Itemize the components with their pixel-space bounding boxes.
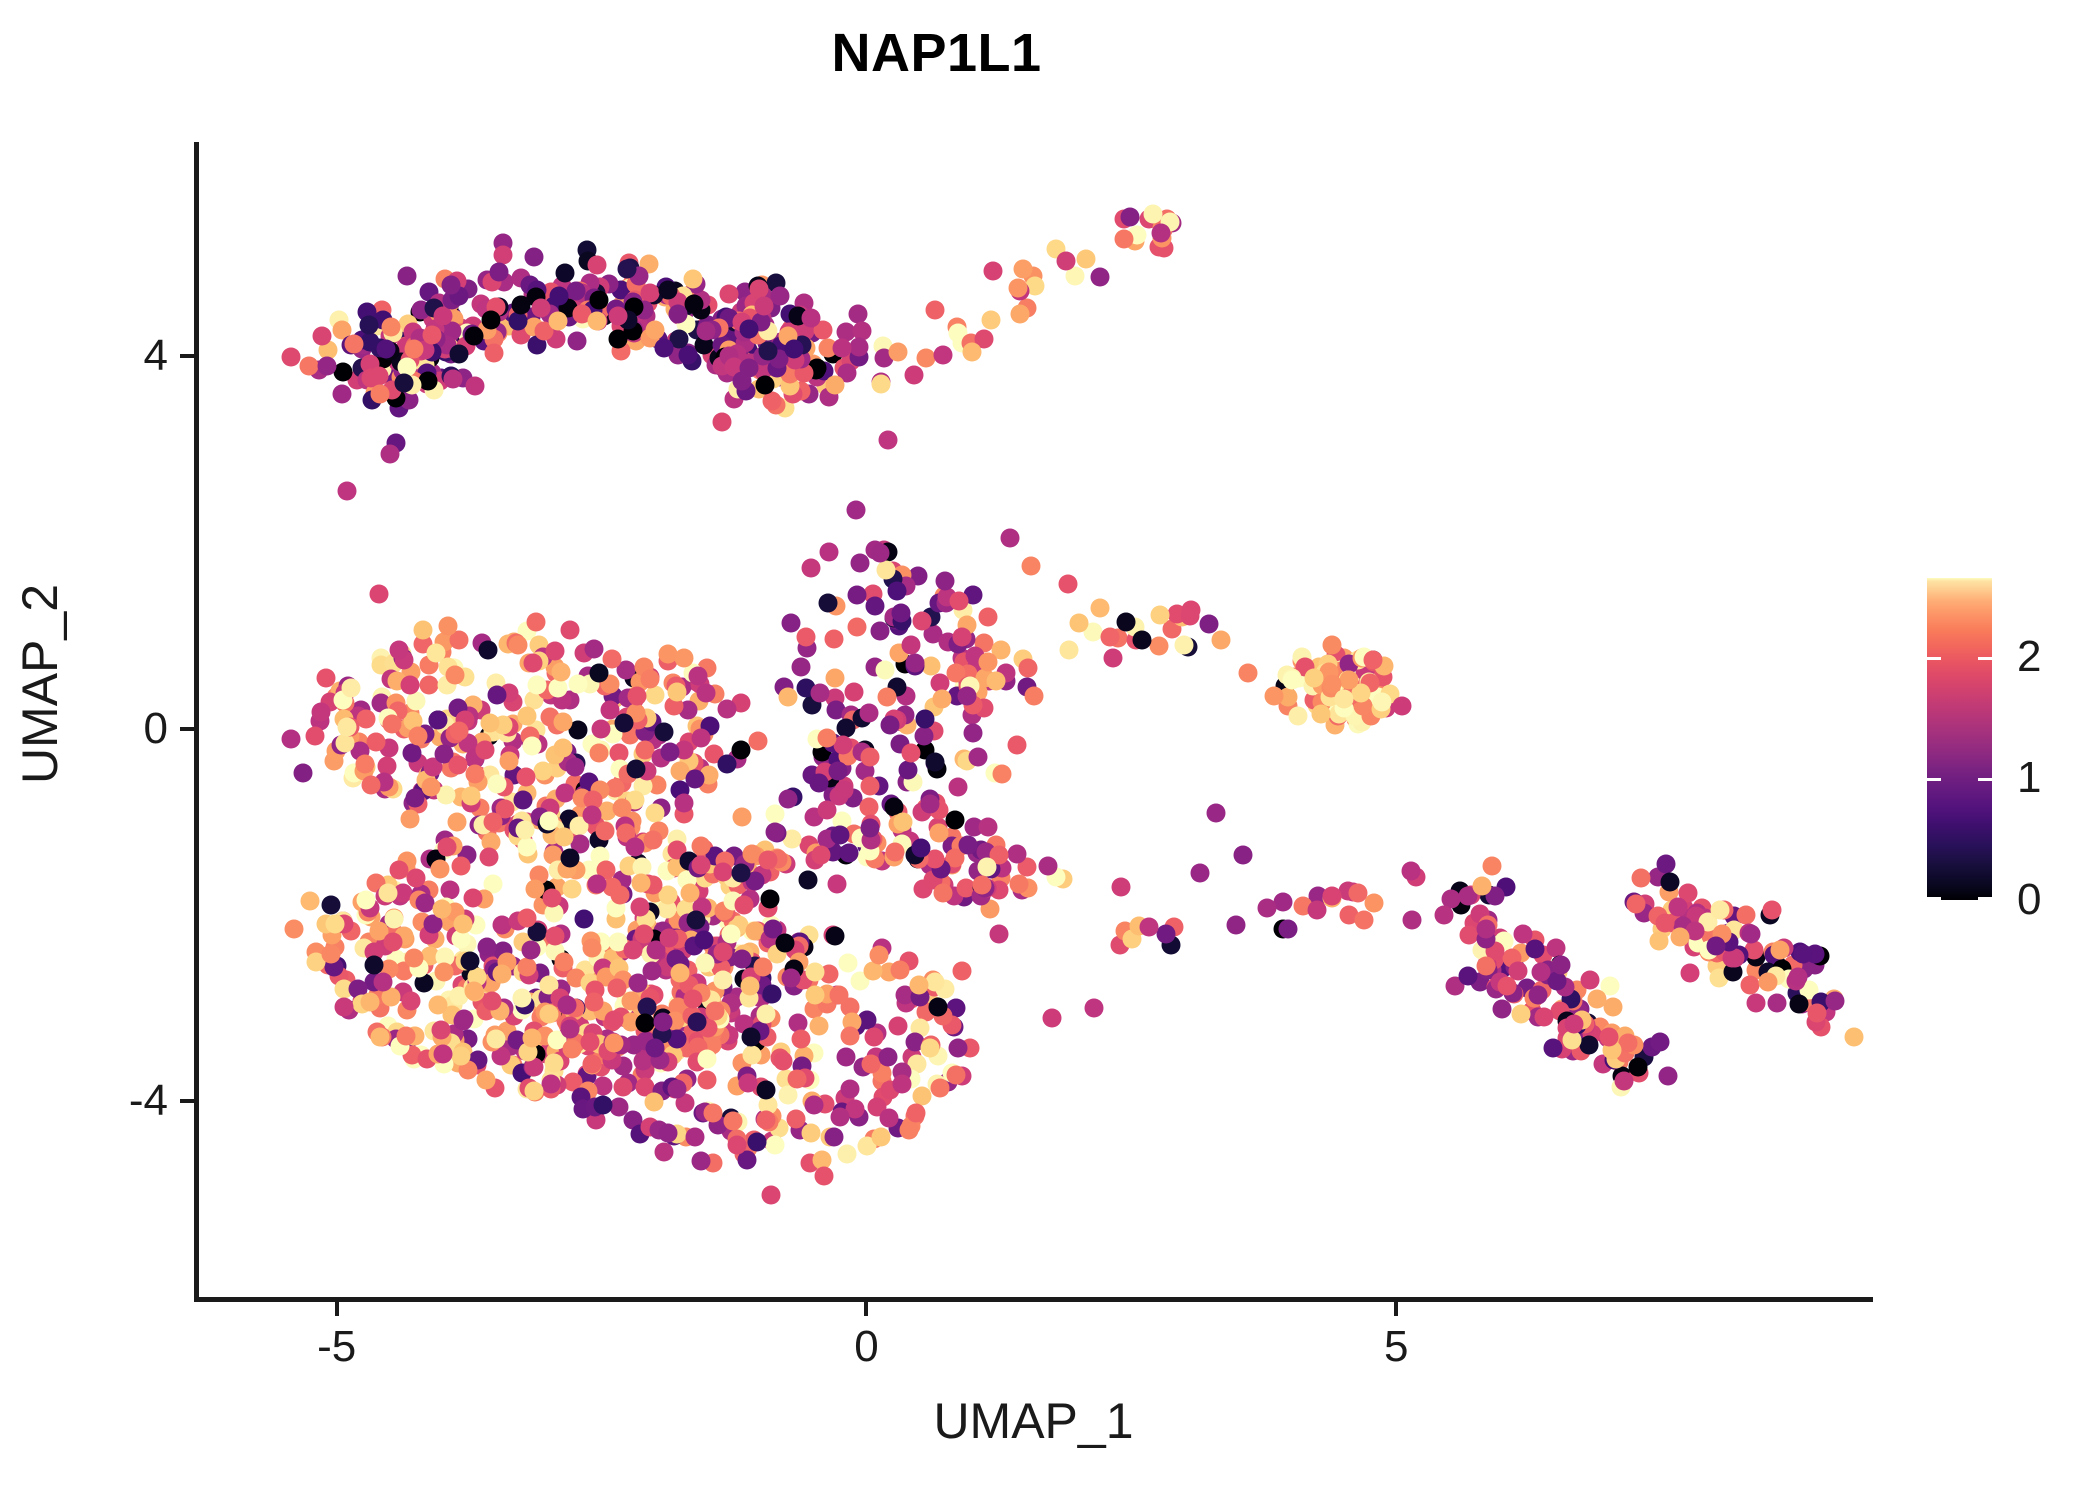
scatter-point xyxy=(1492,999,1511,1018)
scatter-point xyxy=(614,714,633,733)
scatter-point xyxy=(500,752,519,771)
scatter-point xyxy=(901,744,920,763)
scatter-point xyxy=(763,985,782,1004)
scatter-point xyxy=(588,312,607,331)
scatter-point xyxy=(787,1070,806,1089)
scatter-point xyxy=(766,1135,785,1154)
scatter-point xyxy=(1057,251,1076,270)
scatter-point xyxy=(524,248,543,267)
scatter-point xyxy=(720,284,739,303)
scatter-point xyxy=(370,1028,389,1047)
scatter-point xyxy=(1233,845,1252,864)
scatter-point xyxy=(364,955,383,974)
scatter-point xyxy=(1008,845,1027,864)
scatter-point xyxy=(613,1078,632,1097)
scatter-point xyxy=(684,270,703,289)
scatter-point xyxy=(644,830,663,849)
scatter-point xyxy=(420,676,439,695)
scatter-point xyxy=(401,676,420,695)
scatter-point xyxy=(1077,249,1096,268)
scatter-point xyxy=(300,357,319,376)
scatter-point xyxy=(784,340,803,359)
scatter-point xyxy=(1808,1003,1827,1022)
scatter-point xyxy=(534,761,553,780)
scatter-point xyxy=(1181,607,1200,626)
scatter-point xyxy=(370,384,389,403)
scatter-point xyxy=(781,614,800,633)
scatter-point xyxy=(801,1123,820,1142)
scatter-point xyxy=(829,986,848,1005)
scatter-point xyxy=(1631,868,1650,887)
scatter-point xyxy=(518,958,537,977)
scatter-point xyxy=(757,1080,776,1099)
scatter-point xyxy=(1018,659,1037,678)
scatter-point xyxy=(1305,668,1324,687)
scatter-point xyxy=(583,806,602,825)
scatter-point xyxy=(1581,970,1600,989)
scatter-point xyxy=(591,719,610,738)
scatter-point xyxy=(554,713,573,732)
scatter-point xyxy=(1282,670,1301,689)
scatter-point xyxy=(964,724,983,743)
scatter-point xyxy=(627,686,646,705)
scatter-point xyxy=(590,663,609,682)
scatter-point xyxy=(333,385,352,404)
colorbar-tick-mark xyxy=(1927,657,1941,660)
scatter-point xyxy=(1008,278,1027,297)
scatter-point xyxy=(713,970,732,989)
scatter-point xyxy=(881,715,900,734)
scatter-point xyxy=(880,1108,899,1127)
scatter-point xyxy=(1279,920,1298,939)
scatter-point xyxy=(979,817,998,836)
scatter-point xyxy=(838,954,857,973)
scatter-point xyxy=(654,1012,673,1031)
scatter-point xyxy=(1768,993,1787,1012)
scatter-point xyxy=(1392,696,1411,715)
scatter-point xyxy=(1207,803,1226,822)
scatter-point xyxy=(878,431,897,450)
scatter-point xyxy=(1132,631,1151,650)
scatter-point xyxy=(848,586,867,605)
scatter-point xyxy=(546,641,565,660)
scatter-point xyxy=(1534,1008,1553,1027)
scatter-point xyxy=(590,290,609,309)
scatter-point xyxy=(624,941,643,960)
scatter-point xyxy=(439,617,458,636)
scatter-point xyxy=(1090,268,1109,287)
scatter-point xyxy=(982,311,1001,330)
scatter-point xyxy=(811,683,830,702)
scatter-point xyxy=(773,1051,792,1070)
scatter-point xyxy=(563,1040,582,1059)
scatter-point xyxy=(306,727,325,746)
scatter-point xyxy=(1758,973,1777,992)
scatter-point xyxy=(706,1002,725,1021)
scatter-point xyxy=(1085,999,1104,1018)
scatter-point xyxy=(451,1047,470,1066)
scatter-point xyxy=(837,1144,856,1163)
scatter-point xyxy=(952,962,971,981)
scatter-point xyxy=(561,1019,580,1038)
scatter-point xyxy=(448,812,467,831)
scatter-point xyxy=(429,710,448,729)
scatter-points-layer xyxy=(199,142,1873,1297)
scatter-point xyxy=(522,1029,541,1048)
scatter-point xyxy=(379,883,398,902)
y-axis-title: UMAP_2 xyxy=(11,374,69,994)
scatter-point xyxy=(444,369,463,388)
scatter-point xyxy=(636,1014,655,1033)
scatter-point xyxy=(626,837,645,856)
scatter-point xyxy=(926,300,945,319)
scatter-point xyxy=(755,297,774,316)
scatter-point xyxy=(870,544,889,563)
scatter-point xyxy=(691,729,710,748)
scatter-point xyxy=(337,718,356,737)
x-axis-line xyxy=(194,1297,1873,1302)
scatter-point xyxy=(489,262,508,281)
scatter-point xyxy=(818,594,837,613)
scatter-point xyxy=(369,367,388,386)
scatter-point xyxy=(1060,641,1079,660)
scatter-point xyxy=(1588,989,1607,1008)
scatter-point xyxy=(1649,932,1668,951)
scatter-point xyxy=(885,842,904,861)
scatter-point xyxy=(1339,671,1358,690)
scatter-point xyxy=(595,822,614,841)
scatter-point xyxy=(1101,628,1120,647)
scatter-point xyxy=(762,1185,781,1204)
scatter-point xyxy=(1042,1008,1061,1027)
scatter-point xyxy=(1741,975,1760,994)
scatter-point xyxy=(1531,962,1550,981)
scatter-point xyxy=(775,933,794,952)
scatter-point xyxy=(810,1016,829,1035)
scatter-point xyxy=(1627,895,1646,914)
scatter-point xyxy=(948,777,967,796)
scatter-point xyxy=(285,920,304,939)
scatter-point xyxy=(609,330,628,349)
scatter-point xyxy=(860,704,879,723)
scatter-point xyxy=(933,689,952,708)
scatter-point xyxy=(928,998,947,1017)
scatter-point xyxy=(441,275,460,294)
scatter-point xyxy=(488,686,507,705)
scatter-point xyxy=(540,812,559,831)
scatter-point xyxy=(891,960,910,979)
scatter-point xyxy=(563,880,582,899)
scatter-point xyxy=(517,706,536,725)
scatter-point xyxy=(318,356,337,375)
scatter-point xyxy=(434,1044,453,1063)
scatter-point xyxy=(398,266,417,285)
scatter-point xyxy=(802,308,821,327)
scatter-point xyxy=(687,911,706,930)
scatter-point xyxy=(658,280,677,299)
y-tick-label: 0 xyxy=(144,704,168,754)
scatter-point xyxy=(1483,857,1502,876)
scatter-point xyxy=(958,687,977,706)
scatter-point xyxy=(685,1128,704,1147)
scatter-point xyxy=(721,925,740,944)
scatter-point xyxy=(836,1048,855,1067)
scatter-point xyxy=(525,1081,544,1100)
scatter-point xyxy=(1175,636,1194,655)
scatter-point xyxy=(949,1039,968,1058)
scatter-point xyxy=(1323,886,1342,905)
x-tick-mark xyxy=(864,1302,868,1316)
scatter-point xyxy=(1038,856,1057,875)
scatter-point xyxy=(696,953,715,972)
scatter-point xyxy=(684,990,703,1009)
scatter-point xyxy=(508,635,527,654)
scatter-point xyxy=(791,1029,810,1048)
scatter-point xyxy=(973,876,992,895)
scatter-point xyxy=(689,666,708,685)
scatter-point xyxy=(1657,854,1676,873)
scatter-point xyxy=(554,952,573,971)
scatter-point xyxy=(947,1066,966,1085)
scatter-point xyxy=(1000,528,1019,547)
scatter-point xyxy=(1528,985,1547,1004)
scatter-point xyxy=(1660,872,1679,891)
scatter-point xyxy=(584,640,603,659)
umap-feature-plot: NAP1L1 -404 -505 UMAP_1 UMAP_2 012 xyxy=(0,0,2100,1500)
scatter-point xyxy=(560,848,579,867)
scatter-point xyxy=(865,596,884,615)
scatter-point xyxy=(551,663,570,682)
scatter-point xyxy=(1746,994,1765,1013)
scatter-point xyxy=(561,620,580,639)
page-title: NAP1L1 xyxy=(0,22,1873,84)
scatter-point xyxy=(817,801,836,820)
scatter-point xyxy=(480,714,499,733)
scatter-point xyxy=(893,813,912,832)
scatter-point xyxy=(861,819,880,838)
scatter-point xyxy=(428,995,447,1014)
scatter-point xyxy=(1120,208,1139,227)
scatter-point xyxy=(933,884,952,903)
scatter-point xyxy=(373,972,392,991)
scatter-point xyxy=(370,584,389,603)
scatter-point xyxy=(464,889,483,908)
x-tick-label: -5 xyxy=(317,1322,356,1372)
scatter-point xyxy=(542,888,561,907)
scatter-point xyxy=(465,327,484,346)
scatter-point xyxy=(1013,259,1032,278)
scatter-point xyxy=(922,656,941,675)
scatter-point xyxy=(465,764,484,783)
y-tick-mark xyxy=(180,354,194,358)
scatter-point xyxy=(741,976,760,995)
scatter-point xyxy=(432,900,451,919)
scatter-point xyxy=(431,1021,450,1040)
scatter-point xyxy=(930,823,949,842)
scatter-point xyxy=(860,747,879,766)
scatter-point xyxy=(356,709,375,728)
scatter-point xyxy=(549,286,568,305)
scatter-point xyxy=(733,807,752,826)
scatter-point xyxy=(830,1107,849,1126)
scatter-point xyxy=(645,321,664,340)
scatter-point xyxy=(445,665,464,684)
scatter-point xyxy=(950,591,969,610)
scatter-point xyxy=(756,1111,775,1130)
scatter-point xyxy=(912,838,931,857)
scatter-point xyxy=(727,1136,746,1155)
scatter-point xyxy=(479,848,498,867)
scatter-point xyxy=(1579,1035,1598,1054)
scatter-point xyxy=(482,992,501,1011)
scatter-point xyxy=(848,305,867,324)
scatter-point xyxy=(748,1133,767,1152)
scatter-point xyxy=(641,670,660,689)
scatter-point xyxy=(926,753,945,772)
scatter-point xyxy=(825,927,844,946)
scatter-point xyxy=(739,320,758,339)
colorbar-tick-label: 0 xyxy=(2017,875,2041,925)
scatter-point xyxy=(888,582,907,601)
scatter-point xyxy=(301,892,320,911)
scatter-point xyxy=(449,722,468,741)
scatter-point xyxy=(418,371,437,390)
y-tick-mark xyxy=(180,727,194,731)
scatter-point xyxy=(531,298,550,317)
scatter-point xyxy=(422,325,441,344)
scatter-point xyxy=(645,1093,664,1112)
x-tick-mark xyxy=(1394,1302,1398,1316)
scatter-point xyxy=(933,345,952,364)
scatter-point xyxy=(1671,927,1690,946)
scatter-point xyxy=(545,1053,564,1072)
scatter-point xyxy=(522,941,541,960)
scatter-point xyxy=(888,342,907,361)
scatter-point xyxy=(968,747,987,766)
colorbar-gradient xyxy=(1927,578,1992,900)
scatter-point xyxy=(1011,305,1030,324)
scatter-point xyxy=(694,930,713,949)
scatter-point xyxy=(1845,1027,1864,1046)
scatter-point xyxy=(671,964,690,983)
scatter-point xyxy=(434,963,453,982)
scatter-point xyxy=(1307,901,1326,920)
scatter-point xyxy=(805,985,824,1004)
scatter-point xyxy=(1149,636,1168,655)
scatter-point xyxy=(674,793,693,812)
scatter-point xyxy=(870,945,889,964)
scatter-point xyxy=(357,890,376,909)
scatter-point xyxy=(487,1030,506,1049)
scatter-point xyxy=(840,1026,859,1045)
scatter-point xyxy=(483,812,502,831)
scatter-point xyxy=(749,732,768,751)
scatter-point xyxy=(1058,575,1077,594)
scatter-point xyxy=(732,949,751,968)
scatter-point xyxy=(408,726,427,745)
scatter-point xyxy=(675,649,694,668)
scatter-point xyxy=(403,743,422,762)
scatter-point xyxy=(1770,940,1789,959)
scatter-point xyxy=(761,890,780,909)
scatter-point xyxy=(555,264,574,283)
scatter-point xyxy=(661,742,680,761)
scatter-point xyxy=(479,641,498,660)
scatter-point xyxy=(1526,940,1545,959)
scatter-point xyxy=(454,915,473,934)
scatter-point xyxy=(901,636,920,655)
scatter-point xyxy=(477,1070,496,1089)
scatter-point xyxy=(361,992,380,1011)
scatter-point xyxy=(1212,631,1231,650)
scatter-point xyxy=(921,1039,940,1058)
scatter-point xyxy=(899,1121,918,1140)
scatter-point xyxy=(820,542,839,561)
scatter-point xyxy=(376,340,395,359)
scatter-point xyxy=(385,909,404,928)
scatter-point xyxy=(1789,967,1808,986)
scatter-point xyxy=(604,1033,623,1052)
scatter-point xyxy=(877,687,896,706)
scatter-point xyxy=(724,1111,743,1130)
scatter-point xyxy=(477,938,496,957)
scatter-point xyxy=(732,741,751,760)
scatter-point xyxy=(344,334,363,353)
scatter-point xyxy=(931,1078,950,1097)
scatter-point xyxy=(557,995,576,1014)
scatter-point xyxy=(1009,874,1028,893)
scatter-point xyxy=(905,653,924,672)
scatter-point xyxy=(514,791,533,810)
x-tick-label: 0 xyxy=(854,1322,878,1372)
scatter-point xyxy=(696,321,715,340)
scatter-point xyxy=(338,482,357,501)
scatter-point xyxy=(475,740,494,759)
scatter-point xyxy=(787,1110,806,1129)
colorbar-tick-mark xyxy=(1978,657,1992,660)
scatter-point xyxy=(654,339,673,358)
scatter-point xyxy=(565,758,584,777)
scatter-point xyxy=(834,781,853,800)
y-tick-label: 4 xyxy=(144,331,168,381)
scatter-point xyxy=(1265,687,1284,706)
scatter-point xyxy=(713,942,732,961)
scatter-point xyxy=(539,1005,558,1024)
colorbar-tick-mark xyxy=(1978,778,1992,781)
scatter-point xyxy=(449,756,468,775)
scatter-point xyxy=(824,630,843,649)
scatter-point xyxy=(645,803,664,822)
scatter-point xyxy=(905,365,924,384)
scatter-point xyxy=(753,957,772,976)
scatter-point xyxy=(583,1055,602,1074)
scatter-point xyxy=(1115,229,1134,248)
scatter-point xyxy=(1258,899,1277,918)
scatter-point xyxy=(518,908,537,927)
scatter-point xyxy=(691,836,710,855)
scatter-point xyxy=(1348,884,1367,903)
scatter-point xyxy=(585,992,604,1011)
scatter-point xyxy=(465,377,484,396)
scatter-point xyxy=(1191,864,1210,883)
scatter-point xyxy=(1322,636,1341,655)
scatter-point xyxy=(516,768,535,787)
scatter-point xyxy=(582,939,601,958)
scatter-point xyxy=(815,1166,834,1185)
scatter-point xyxy=(806,962,825,981)
scatter-point xyxy=(986,671,1005,690)
scatter-point xyxy=(1007,735,1026,754)
